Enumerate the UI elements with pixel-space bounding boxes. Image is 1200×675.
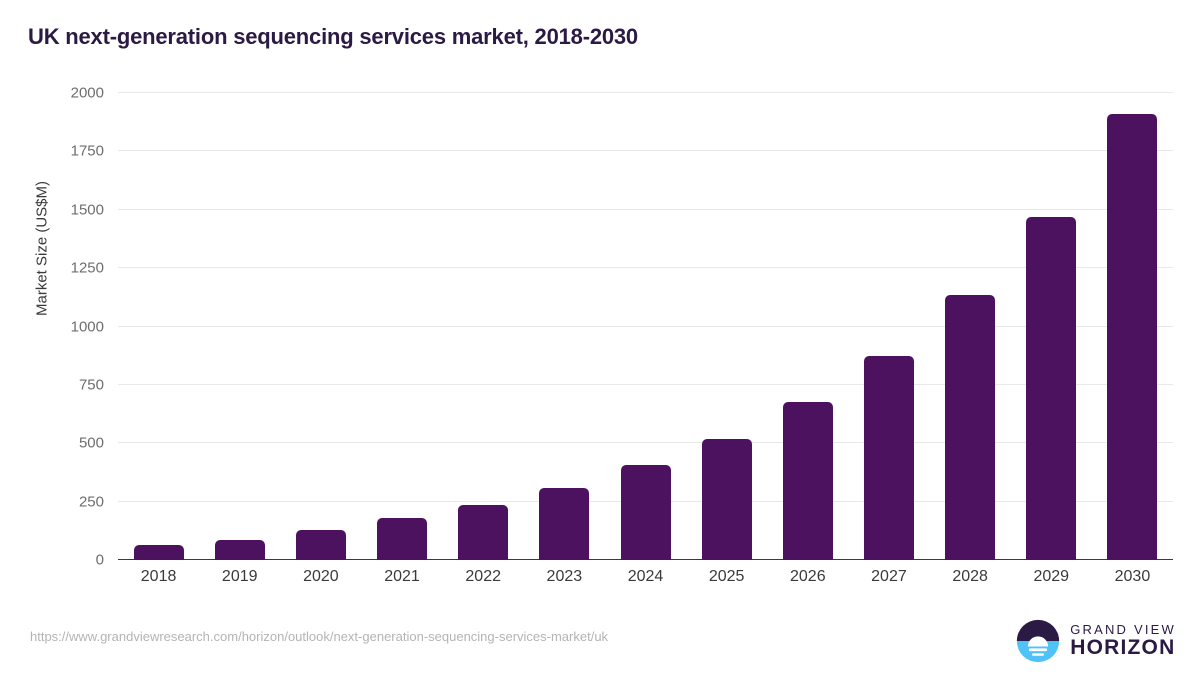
bar-slot bbox=[215, 93, 265, 560]
page-title: UK next-generation sequencing services m… bbox=[28, 24, 638, 50]
bar[interactable] bbox=[134, 545, 184, 560]
source-url[interactable]: https://www.grandviewresearch.com/horizo… bbox=[30, 629, 608, 644]
y-tick-label: 1750 bbox=[71, 143, 104, 160]
y-tick-label: 1000 bbox=[71, 318, 104, 335]
x-tick-label: 2025 bbox=[709, 568, 745, 586]
x-tick-label: 2023 bbox=[547, 568, 583, 586]
x-tick-label: 2020 bbox=[303, 568, 339, 586]
x-tick-label: 2022 bbox=[465, 568, 501, 586]
y-tick-label: 500 bbox=[79, 435, 104, 452]
brand-line-2: HORIZON bbox=[1070, 637, 1176, 659]
y-tick-label: 2000 bbox=[71, 85, 104, 102]
brand-line-1: GRAND VIEW bbox=[1070, 623, 1176, 637]
bar[interactable] bbox=[945, 295, 995, 560]
bar-slot bbox=[539, 93, 589, 560]
bar[interactable] bbox=[215, 540, 265, 560]
bar[interactable] bbox=[296, 530, 346, 560]
x-tick-label: 2030 bbox=[1115, 568, 1151, 586]
brand-wordmark: GRAND VIEW HORIZON bbox=[1070, 623, 1176, 659]
x-tick-label: 2028 bbox=[952, 568, 988, 586]
bar-slot bbox=[296, 93, 346, 560]
bar-slot bbox=[1026, 93, 1076, 560]
bar[interactable] bbox=[377, 518, 427, 560]
x-tick-label: 2024 bbox=[628, 568, 664, 586]
x-tick-label: 2021 bbox=[384, 568, 420, 586]
y-tick-label: 0 bbox=[96, 552, 104, 569]
bar[interactable] bbox=[1026, 217, 1076, 560]
bar-slot bbox=[864, 93, 914, 560]
bars-layer bbox=[118, 93, 1173, 560]
y-tick-label: 250 bbox=[79, 493, 104, 510]
x-tick-label: 2027 bbox=[871, 568, 907, 586]
bar-slot bbox=[621, 93, 671, 560]
bar[interactable] bbox=[783, 402, 833, 560]
bar-slot bbox=[458, 93, 508, 560]
bar-slot bbox=[1107, 93, 1157, 560]
x-tick-label: 2019 bbox=[222, 568, 258, 586]
bar[interactable] bbox=[539, 488, 589, 560]
bar-slot bbox=[783, 93, 833, 560]
bar-slot bbox=[134, 93, 184, 560]
horizon-circle-icon bbox=[1015, 618, 1061, 664]
bar[interactable] bbox=[1107, 114, 1157, 560]
y-tick-label: 1500 bbox=[71, 201, 104, 218]
chart-page: UK next-generation sequencing services m… bbox=[0, 0, 1200, 675]
x-axis-tick-labels: 2018201920202021202220232024202520262027… bbox=[118, 568, 1173, 598]
bar-slot bbox=[945, 93, 995, 560]
y-tick-label: 750 bbox=[79, 376, 104, 393]
bar[interactable] bbox=[864, 356, 914, 560]
bar[interactable] bbox=[458, 505, 508, 560]
x-tick-label: 2018 bbox=[141, 568, 177, 586]
bar-slot bbox=[377, 93, 427, 560]
plot-area bbox=[118, 93, 1173, 560]
bar[interactable] bbox=[621, 465, 671, 560]
x-tick-label: 2026 bbox=[790, 568, 826, 586]
y-axis-tick-labels: 025050075010001250150017502000 bbox=[0, 93, 104, 560]
bar[interactable] bbox=[702, 439, 752, 560]
brand-logo: GRAND VIEW HORIZON bbox=[1015, 618, 1176, 664]
y-axis-title: Market Size (US$M) bbox=[34, 59, 51, 439]
x-tick-label: 2029 bbox=[1033, 568, 1069, 586]
y-tick-label: 1250 bbox=[71, 260, 104, 277]
bar-slot bbox=[702, 93, 752, 560]
